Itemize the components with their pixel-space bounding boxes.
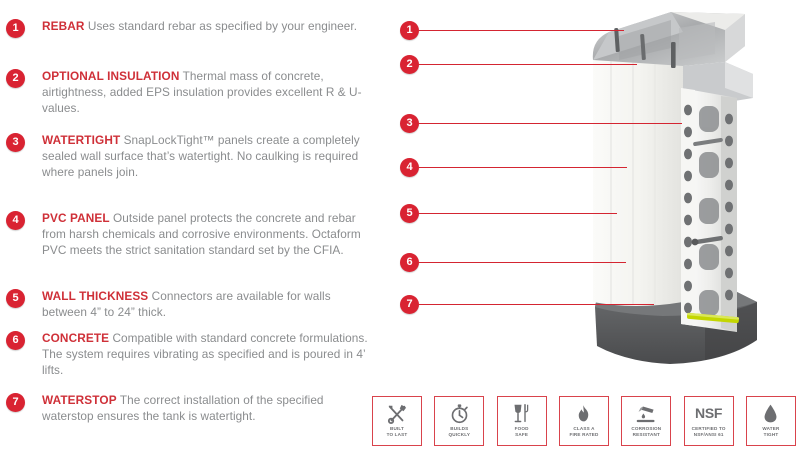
feature-text-5: WALL THICKNESS Connectors are available … (42, 288, 374, 320)
feature-item-7: 7 WATERSTOP The correct installation of … (6, 392, 374, 424)
feature-title-1: REBAR (42, 19, 85, 33)
feature-bullet-7: 7 (6, 393, 25, 412)
callout-bullet-6: 6 (400, 253, 419, 272)
badge-label-food-safe: FOOD SAFE (515, 426, 529, 439)
badge-label-corrosion-resistant: CORROSION RESISTANT (631, 426, 661, 439)
callout-bullet-3: 3 (400, 114, 419, 133)
hammer-wrench-icon (386, 402, 408, 425)
badge-label-class-a-fire-rated: CLASS A FIRE RATED (569, 426, 598, 439)
feature-bullet-3: 3 (6, 133, 25, 152)
callout-2: 2 (400, 55, 637, 74)
badge-water-tight: WATER TIGHT (746, 396, 796, 446)
callout-leader-6 (419, 262, 626, 264)
feature-text-4: PVC PANEL Outside panel protects the con… (42, 210, 374, 259)
callout-6: 6 (400, 253, 626, 272)
feature-item-1: 1 REBAR Uses standard rebar as specified… (6, 18, 374, 38)
feature-item-3: 3 WATERTIGHT SnapLockTight™ panels creat… (6, 132, 374, 181)
feature-item-2: 2 OPTIONAL INSULATION Thermal mass of co… (6, 68, 374, 117)
badge-label-water-tight: WATER TIGHT (762, 426, 779, 439)
feature-title-7: WATERSTOP (42, 393, 117, 407)
badge-builds-quickly: BUILDS QUICKLY (434, 396, 484, 446)
glass-fork-icon (511, 402, 532, 425)
nsf-wordmark: NSF (695, 402, 722, 425)
feature-text-6: CONCRETE Compatible with standard concre… (42, 330, 374, 379)
callout-leader-5 (419, 213, 617, 215)
badge-label-built-to-last: BUILT TO LAST (387, 426, 408, 439)
nsf-logo: NSF (695, 402, 722, 425)
feature-item-4: 4 PVC PANEL Outside panel protects the c… (6, 210, 374, 259)
feature-text-1: REBAR Uses standard rebar as specified b… (42, 18, 357, 34)
feature-bullet-4: 4 (6, 211, 25, 230)
feature-title-2: OPTIONAL INSULATION (42, 69, 179, 83)
callout-bullet-4: 4 (400, 158, 419, 177)
feature-bullet-5: 5 (6, 289, 25, 308)
connector-column (681, 88, 737, 332)
feature-text-7: WATERSTOP The correct installation of th… (42, 392, 374, 424)
callout-3: 3 (400, 114, 682, 133)
feature-title-6: CONCRETE (42, 331, 109, 345)
callout-4: 4 (400, 158, 627, 177)
badge-built-to-last: BUILT TO LAST (372, 396, 422, 446)
feature-list: 1 REBAR Uses standard rebar as specified… (0, 0, 380, 450)
badge-label-nsf-certified: CERTIFIED TO NSF/ANSI 61 (692, 426, 726, 439)
feature-bullet-2: 2 (6, 69, 25, 88)
feature-body-1: Uses standard rebar as specified by your… (85, 19, 358, 33)
callout-leader-4 (419, 167, 627, 169)
badge-food-safe: FOOD SAFE (497, 396, 547, 446)
certification-badge-strip: BUILT TO LAST BUILDS QUICKLY FO (372, 396, 796, 448)
feature-text-2: OPTIONAL INSULATION Thermal mass of conc… (42, 68, 374, 117)
callout-bullet-2: 2 (400, 55, 419, 74)
callout-bullet-1: 1 (400, 21, 419, 40)
water-drop-icon (762, 402, 779, 425)
badge-label-builds-quickly: BUILDS QUICKLY (449, 426, 471, 439)
callout-leader-2 (419, 64, 637, 66)
feature-title-5: WALL THICKNESS (42, 289, 148, 303)
feature-bullet-1: 1 (6, 19, 25, 38)
feature-bullet-6: 6 (6, 331, 25, 350)
badge-corrosion-resistant: CORROSION RESISTANT (621, 396, 671, 446)
feature-item-5: 5 WALL THICKNESS Connectors are availabl… (6, 288, 374, 320)
callout-leader-1 (419, 30, 624, 32)
feature-title-4: PVC PANEL (42, 211, 110, 225)
callout-leader-7 (419, 304, 654, 306)
flame-icon (574, 402, 593, 425)
stopwatch-icon (449, 402, 470, 425)
feature-text-3: WATERTIGHT SnapLockTight™ panels create … (42, 132, 374, 181)
callout-7: 7 (400, 295, 654, 314)
callout-leader-3 (419, 123, 682, 125)
callout-bullet-7: 7 (400, 295, 419, 314)
callout-1: 1 (400, 21, 624, 40)
callout-bullet-5: 5 (400, 204, 419, 223)
feature-title-3: WATERTIGHT (42, 133, 120, 147)
badge-class-a-fire-rated: CLASS A FIRE RATED (559, 396, 609, 446)
callout-5: 5 (400, 204, 617, 223)
corrosion-drip-icon (635, 402, 658, 425)
badge-nsf-certified: NSF CERTIFIED TO NSF/ANSI 61 (684, 396, 734, 446)
wall-assembly-diagram: 1 2 3 4 5 6 7 (380, 0, 800, 385)
feature-item-6: 6 CONCRETE Compatible with standard conc… (6, 330, 374, 379)
